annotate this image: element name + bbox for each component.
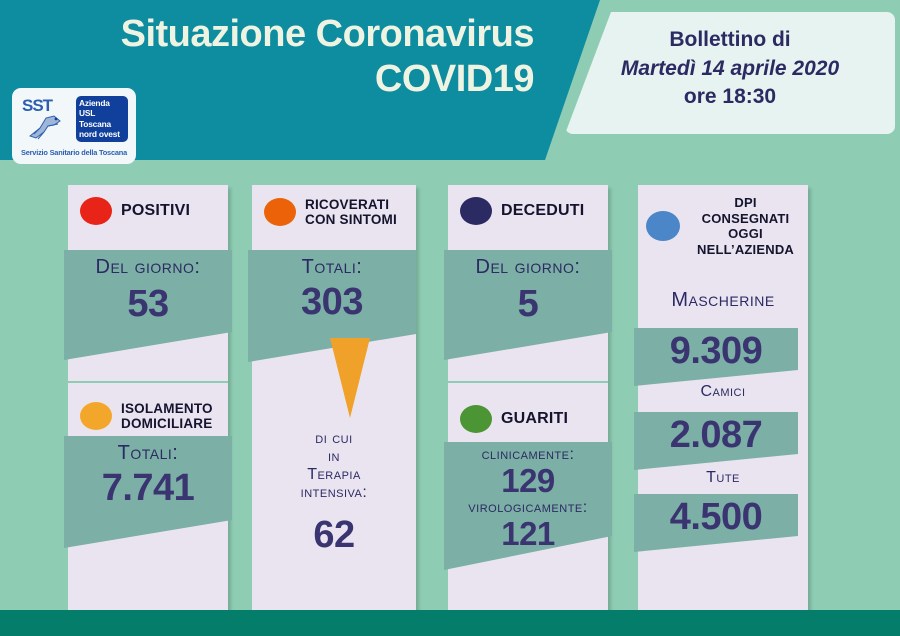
dpi-header: DPI CONSEGNATI OGGI NELL’AZIENDA [638,185,808,261]
blue-dot-icon [646,211,680,241]
bulletin-time: ore 18:30 [565,83,895,112]
organization-logo: SST Azienda USL Toscana nord ovest Servi… [12,88,136,164]
deceduti-title: DECEDUTI [501,202,584,220]
positivi-divider [68,381,228,383]
card-dpi: DPI CONSEGNATI OGGI NELL’AZIENDA Mascher… [638,185,808,621]
red-dot-icon [80,197,112,225]
terapia-intensiva-value: 62 [252,516,416,554]
orange-dot-icon [264,198,296,226]
bulletin-label: Bollettino di [565,26,895,55]
ricoverati-total-label: Totali: [248,256,416,279]
logo-org-line-2: USL [79,108,128,118]
isolamento-header: ISOLAMENTO DOMICILIARE [68,389,221,437]
ricoverati-title-line-1: RICOVERATI [305,197,389,212]
guariti-title: GUARITI [501,410,568,428]
logo-footer-text: Servizio Sanitario della Toscana [20,148,128,157]
bulletin-date-panel: Bollettino di Martedì 14 aprile 2020 ore… [565,12,895,134]
orange-triangle-icon [330,338,370,418]
bird-logo-icon [24,112,72,140]
ricoverati-total-value: 303 [248,283,416,321]
ricoverati-title-line-2: CON SINTOMI [305,212,397,227]
deceduti-divider [448,381,608,383]
positivi-daily-label: Del giorno: [64,256,232,279]
header-band: Situazione Coronavirus COVID19 SST Azien… [0,0,900,172]
isolamento-title-line-1: ISOLAMENTO [121,401,213,416]
amber-dot-icon [80,402,112,430]
positivi-daily-value: 53 [64,285,232,323]
ricoverati-header: RICOVERATI CON SINTOMI [252,185,416,233]
dpi-title-line-1: DPI [734,195,756,210]
isolamento-total-label: Totali: [64,442,232,465]
isolamento-title-line-2: DOMICILIARE [121,416,212,431]
terapia-line-2: in [252,448,416,466]
logo-org-line-3: Toscana [79,119,128,129]
logo-org-line-4: nord ovest [79,129,128,139]
navy-dot-icon [460,197,492,225]
logo-org-block: Azienda USL Toscana nord ovest [76,96,128,142]
dpi-camici-value: 2.087 [634,416,798,454]
positivi-header: POSITIVI [68,185,228,231]
dpi-title-line-3: OGGI [728,226,763,241]
ricoverati-title: RICOVERATI CON SINTOMI [305,197,397,227]
deceduti-daily-value: 5 [444,285,612,323]
isolamento-title: ISOLAMENTO DOMICILIARE [121,401,213,431]
title-line-1: Situazione Coronavirus [121,13,534,55]
deceduti-daily-label: Del giorno: [444,256,612,279]
terapia-line-3: Terapia [252,466,416,484]
dpi-tute-value: 4.500 [634,498,798,536]
guariti-header: GUARITI [448,393,576,439]
dpi-mascherine-label: Mascherine [638,289,808,312]
guariti-clinicamente-value: 129 [444,464,612,497]
dpi-title-line-2: CONSEGNATI [702,211,790,226]
dpi-mascherine-value: 9.309 [634,332,798,370]
terapia-line-4: intensiva: [252,484,416,502]
bulletin-date: Martedì 14 aprile 2020 [565,55,895,84]
positivi-title: POSITIVI [121,202,190,220]
deceduti-header: DECEDUTI [448,185,608,231]
footer-bar [0,610,900,636]
green-dot-icon [460,405,492,433]
dpi-tute-label: Tute [638,469,808,487]
dpi-title-line-4: NELL’AZIENDA [697,242,794,257]
logo-org-line-1: Azienda [79,98,128,108]
isolamento-total-value: 7.741 [64,469,232,507]
terapia-line-1: di cui [252,430,416,448]
dpi-title: DPI CONSEGNATI OGGI NELL’AZIENDA [689,195,802,257]
terapia-intensiva-block: di cui in Terapia intensiva: 62 [252,430,416,554]
dpi-camici-label: Camici [638,383,808,401]
